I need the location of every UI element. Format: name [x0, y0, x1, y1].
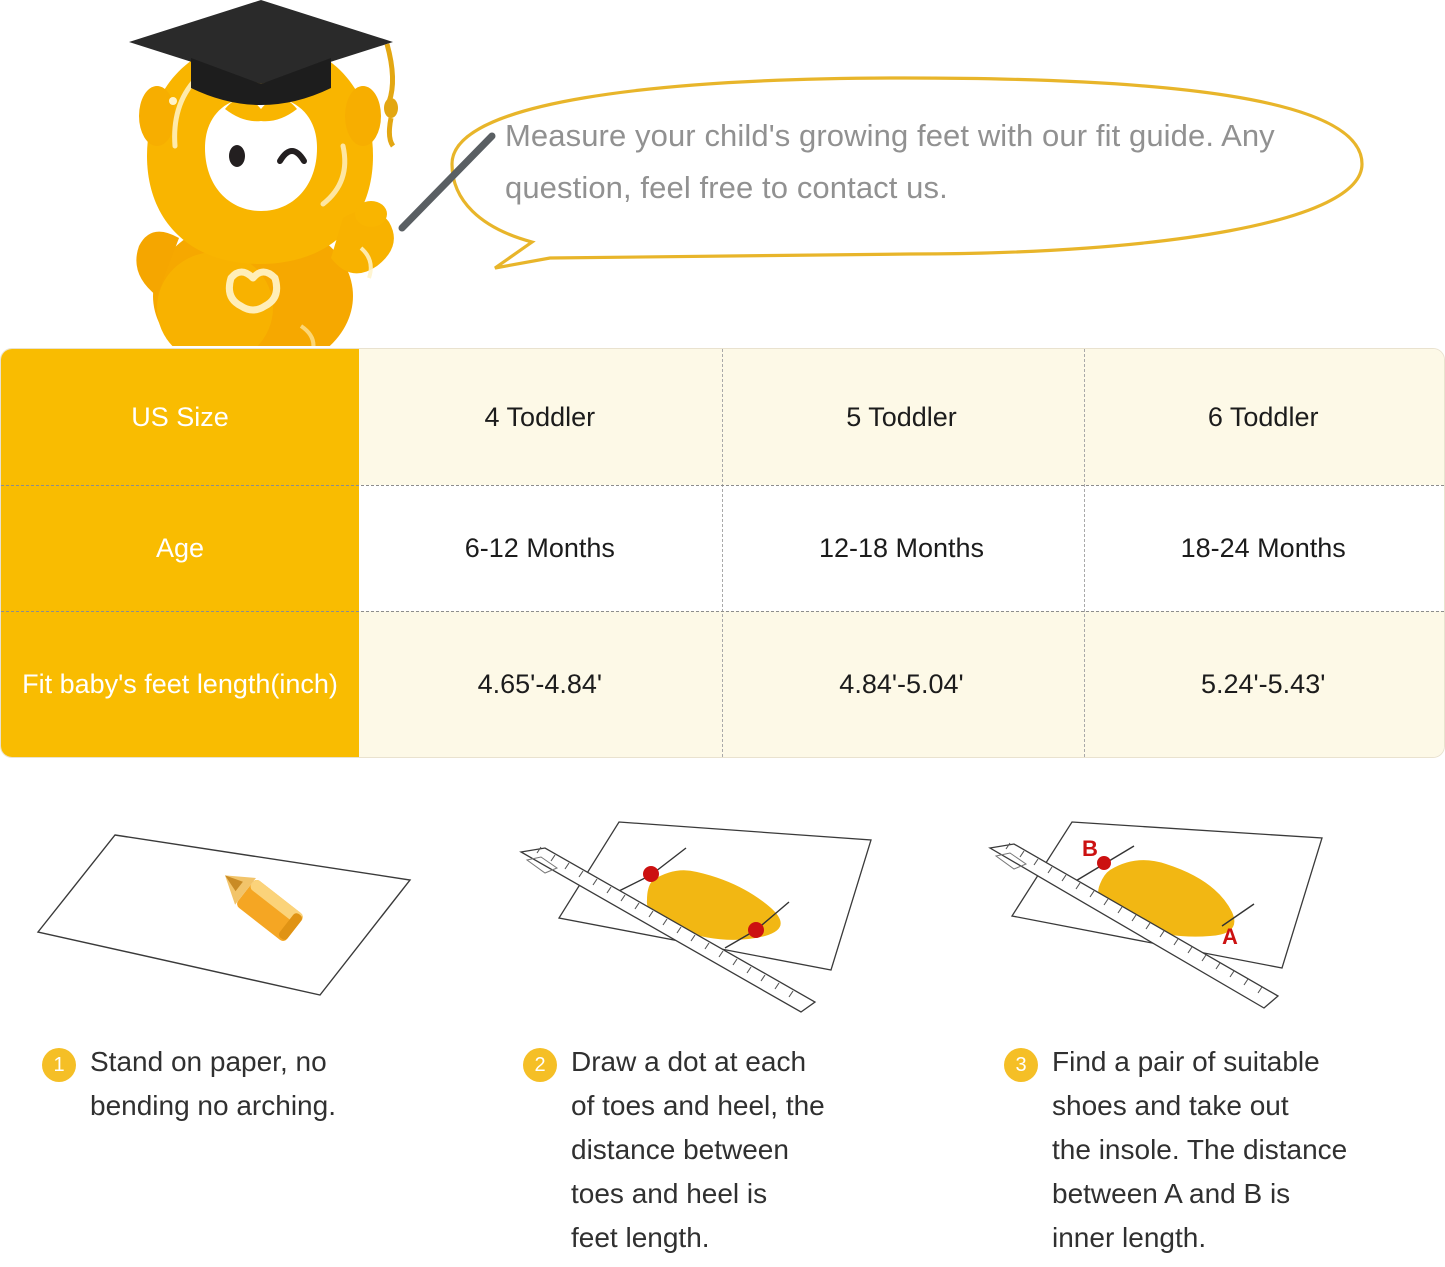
step-1-illustration — [20, 820, 460, 1015]
cell-feet-length-col1: 4.65'-4.84' — [359, 611, 721, 757]
row-label-age: Age — [1, 485, 359, 611]
cell-age-col1: 6-12 Months — [359, 485, 721, 611]
step-1-badge: 1 — [42, 1048, 76, 1082]
table-row-divider — [1, 611, 1444, 612]
label-b: B — [1082, 836, 1098, 861]
step-2-text: Draw a dot at each of toes and heel, the… — [571, 1040, 825, 1260]
row-label-feet-length: Fit baby's feet length(inch) — [1, 611, 359, 757]
step-1: 1 Stand on paper, no bending no arching. — [0, 800, 481, 1267]
point-b-dot-icon — [1097, 856, 1111, 870]
cell-us-size-col1: 4 Toddler — [359, 349, 721, 485]
step-3-text: Find a pair of suitable shoes and take o… — [1052, 1040, 1347, 1260]
heel-dot-icon — [748, 922, 764, 938]
cell-age-col2: 12-18 Months — [721, 485, 1083, 611]
cell-age-col3: 18-24 Months — [1082, 485, 1444, 611]
step-3-illustration: B A — [982, 820, 1422, 1015]
cell-feet-length-col2: 4.84'-5.04' — [721, 611, 1083, 757]
step-3-badge: 3 — [1004, 1048, 1038, 1082]
label-a: A — [1222, 924, 1238, 949]
eye-open-icon — [229, 145, 245, 167]
size-chart-table: US Size 4 Toddler 5 Toddler 6 Toddler Ag… — [0, 348, 1445, 758]
table-column-divider — [722, 349, 723, 757]
header-area: Measure your child's growing feet with o… — [0, 0, 1445, 348]
paper-sheet-icon — [38, 835, 410, 995]
step-1-text: Stand on paper, no bending no arching. — [90, 1040, 336, 1128]
cell-feet-length-col3: 5.24'-5.43' — [1082, 611, 1444, 757]
table-column-divider — [1084, 349, 1085, 757]
cell-us-size-col3: 6 Toddler — [1082, 349, 1444, 485]
step-2-illustration — [501, 820, 941, 1015]
step-3-text-row: 3 Find a pair of suitable shoes and take… — [1004, 1040, 1424, 1260]
step-2: 2 Draw a dot at each of toes and heel, t… — [481, 800, 962, 1267]
step-1-text-row: 1 Stand on paper, no bending no arching. — [42, 1040, 462, 1128]
pointer-stick-icon — [380, 128, 520, 248]
cell-us-size-col2: 5 Toddler — [721, 349, 1083, 485]
step-2-text-row: 2 Draw a dot at each of toes and heel, t… — [523, 1040, 943, 1260]
step-2-badge: 2 — [523, 1048, 557, 1082]
toe-dot-icon — [643, 866, 659, 882]
speech-bubble-text: Measure your child's growing feet with o… — [505, 110, 1305, 214]
row-label-us-size: US Size — [1, 349, 359, 485]
step-3: B A — [962, 800, 1443, 1267]
measuring-steps: 1 Stand on paper, no bending no arching. — [0, 800, 1445, 1267]
graduate-mascot — [95, 0, 425, 346]
table-row-divider — [1, 485, 1444, 486]
